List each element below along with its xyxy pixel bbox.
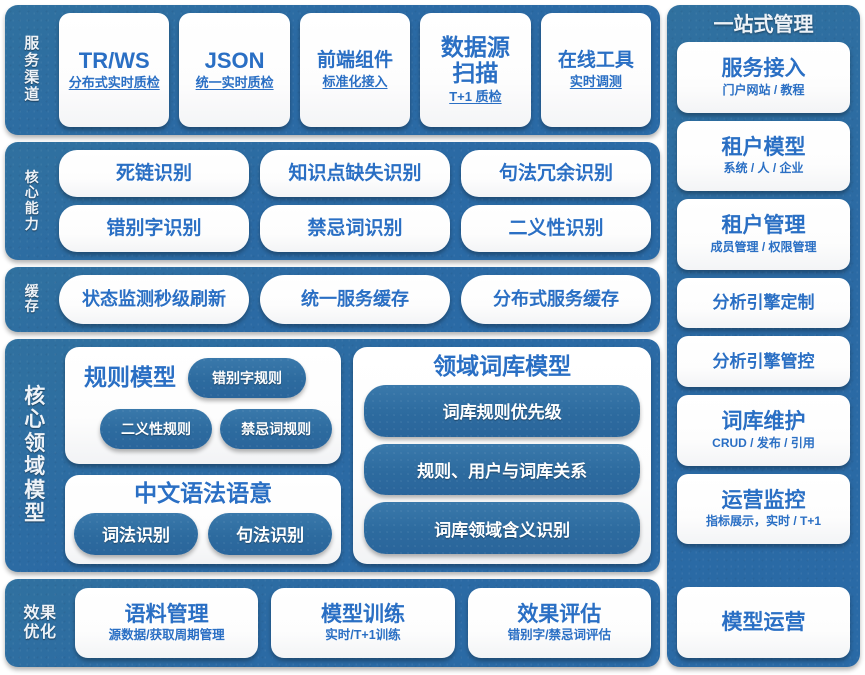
service-channel-card-list: TR/WS 分布式实时质检 JSON 统一实时质检 前端组件 标准化接入 数据源… (59, 13, 651, 127)
card-tenant-model[interactable]: 租户模型 系统 / 人 / 企业 (677, 121, 850, 192)
card-syntax-redundancy-detect[interactable]: 句法冗余识别 (461, 150, 651, 197)
label-line: 效果 (23, 604, 56, 623)
panel-label-effect-optimization: 效果 优化 (14, 588, 66, 658)
card-subtitle: 错别字/禁忌词评估 (508, 628, 611, 643)
group-title-domain-lexicon: 领域词库模型 (364, 354, 640, 379)
card-lexicon-maintenance[interactable]: 词库维护 CRUD / 发布 / 引用 (677, 395, 850, 466)
card-title: 错别字识别 (106, 218, 201, 239)
panel-core-domain-model: 核 心 领 域 模 型 规则模型 错别字规则 (5, 339, 660, 572)
card-title: 服务接入 (722, 57, 806, 81)
left-column: 服 务 渠 道 TR/WS 分布式实时质检 JSON 统一实时质检 前端组件 (5, 5, 660, 667)
architecture-diagram: 服 务 渠 道 TR/WS 分布式实时质检 JSON 统一实时质检 前端组件 (0, 0, 865, 675)
card-knowledge-gap-detect[interactable]: 知识点缺失识别 (260, 150, 450, 197)
card-subtitle: T+1 质检 (449, 89, 501, 105)
pill-rule-user-lexicon-relation[interactable]: 规则、用户与词库关系 (364, 444, 640, 496)
card-title: TR/WS (79, 49, 150, 74)
pill-label: 禁忌词规则 (241, 419, 311, 439)
card-title: 租户管理 (722, 214, 806, 238)
card-title: 模型运营 (722, 611, 806, 635)
card-subtitle: 实时调测 (570, 74, 622, 90)
card-effect-evaluation[interactable]: 效果评估 错别字/禁忌词评估 (468, 588, 651, 658)
card-subtitle: 指标展示，实时 / T+1 (706, 514, 821, 528)
panel-one-stop-management: 一站式管理 服务接入 门户网站 / 教程 租户模型 系统 / 人 / 企业 租户… (667, 5, 860, 667)
pill-label: 词法识别 (102, 521, 170, 546)
card-online-tool[interactable]: 在线工具 实时调测 (541, 13, 651, 127)
card-title: 前端组件 (317, 50, 393, 71)
pill-label: 错别字规则 (212, 368, 282, 388)
card-title: 租户模型 (722, 136, 806, 160)
card-title: 禁忌词识别 (307, 218, 402, 239)
core-domain-model-body: 规则模型 错别字规则 二义性规则 禁忌词规则 (65, 347, 651, 564)
label-char: 模 (24, 479, 46, 503)
pill-taboo-word-rule[interactable]: 禁忌词规则 (220, 409, 332, 449)
card-corpus-management[interactable]: 语料管理 源数据/获取周期管理 (75, 588, 258, 658)
card-title: 知识点缺失识别 (288, 163, 421, 184)
group-title-rule-model: 规则模型 (74, 365, 182, 390)
panel-service-channel: 服 务 渠 道 TR/WS 分布式实时质检 JSON 统一实时质检 前端组件 (5, 5, 660, 135)
group-chinese-grammar: 中文语法语意 词法识别 句法识别 (65, 475, 341, 564)
panel-core-capability: 核 心 能 力 死链识别 知识点缺失识别 句法冗余识别 错别字识别 (5, 142, 660, 260)
card-title: 死链识别 (116, 163, 192, 184)
core-domain-right-group: 领域词库模型 词库规则优先级 规则、用户与词库关系 词库领域含义识别 (353, 347, 651, 564)
card-title: 在线工具 (558, 50, 634, 71)
group-rule-model: 规则模型 错别字规则 二义性规则 禁忌词规则 (65, 347, 341, 464)
pill-lexicon-domain-meaning[interactable]: 词库领域含义识别 (364, 502, 640, 554)
panel-label-service-channel: 服 务 渠 道 (14, 13, 50, 127)
card-subtitle: 系统 / 人 / 企业 (723, 161, 803, 175)
card-subtitle: 成员管理 / 权限管理 (710, 240, 816, 254)
card-subtitle: 统一实时质检 (196, 75, 274, 91)
card-status-monitor-refresh[interactable]: 状态监测秒级刷新 (59, 275, 249, 324)
core-domain-left-group: 规则模型 错别字规则 二义性规则 禁忌词规则 (65, 347, 341, 564)
pill-label: 句法识别 (236, 521, 304, 546)
label-char: 能 (25, 201, 40, 217)
card-title: 统一服务缓存 (301, 289, 409, 309)
label-line: 优化 (23, 623, 56, 642)
card-json[interactable]: JSON 统一实时质检 (179, 13, 289, 127)
layout-spacer (677, 552, 850, 579)
card-title: 效果评估 (517, 603, 601, 627)
card-title: 运营监控 (722, 489, 806, 513)
pill-lexical-recognition[interactable]: 词法识别 (74, 513, 198, 555)
card-tr-ws[interactable]: TR/WS 分布式实时质检 (59, 13, 169, 127)
card-analysis-engine-control[interactable]: 分析引擎管控 (677, 336, 850, 387)
card-frontend-component[interactable]: 前端组件 标准化接入 (300, 13, 410, 127)
pill-label: 词库规则优先级 (443, 398, 562, 423)
card-unified-service-cache[interactable]: 统一服务缓存 (260, 275, 450, 324)
card-subtitle: CRUD / 发布 / 引用 (712, 436, 815, 450)
card-subtitle: 源数据/获取周期管理 (109, 628, 225, 643)
card-ambiguity-detect[interactable]: 二义性识别 (461, 205, 651, 252)
panel-effect-optimization: 效果 优化 语料管理 源数据/获取周期管理 模型训练 实时/T+1训练 效果评估… (5, 579, 660, 667)
core-capability-card-list: 死链识别 知识点缺失识别 句法冗余识别 错别字识别 禁忌词识别 二义性识别 (59, 150, 651, 252)
group-domain-lexicon-model: 领域词库模型 词库规则优先级 规则、用户与词库关系 词库领域含义识别 (353, 347, 651, 564)
card-title: 句法冗余识别 (499, 163, 613, 184)
label-char: 型 (24, 502, 46, 526)
pill-label: 二义性规则 (121, 419, 191, 439)
card-title: 词库维护 (722, 410, 806, 434)
label-char: 心 (24, 408, 46, 432)
card-dead-link-detect[interactable]: 死链识别 (59, 150, 249, 197)
card-distributed-service-cache[interactable]: 分布式服务缓存 (461, 275, 651, 324)
card-model-training[interactable]: 模型训练 实时/T+1训练 (271, 588, 454, 658)
card-subtitle: 实时/T+1训练 (325, 628, 400, 643)
effect-optimization-card-list: 语料管理 源数据/获取周期管理 模型训练 实时/T+1训练 效果评估 错别字/禁… (75, 588, 651, 658)
pill-lexicon-rule-priority[interactable]: 词库规则优先级 (364, 385, 640, 437)
group-title-chinese-grammar: 中文语法语意 (74, 481, 332, 506)
card-operation-monitoring[interactable]: 运营监控 指标展示，实时 / T+1 (677, 474, 850, 545)
label-char: 力 (25, 217, 40, 233)
label-char: 存 (25, 299, 40, 315)
card-title: 分析引擎定制 (713, 293, 815, 312)
panel-label-core-domain-model: 核 心 领 域 模 型 (14, 347, 56, 564)
label-char: 域 (24, 455, 46, 479)
label-char: 服 (24, 36, 40, 53)
card-title: 语料管理 (125, 603, 209, 627)
panel-label-cache: 缓 存 (14, 275, 50, 324)
card-subtitle: 标准化接入 (323, 74, 388, 90)
card-title: 二义性识别 (508, 218, 603, 239)
card-title: 数据源扫描 (436, 35, 514, 87)
card-title: JSON (205, 49, 265, 74)
card-datasource-scan[interactable]: 数据源扫描 T+1 质检 (420, 13, 530, 127)
panel-cache: 缓 存 状态监测秒级刷新 统一服务缓存 分布式服务缓存 (5, 267, 660, 332)
label-char: 务 (24, 53, 40, 70)
panel-label-core-capability: 核 心 能 力 (14, 150, 50, 252)
pill-label: 词库领域含义识别 (434, 516, 570, 541)
label-char: 心 (25, 185, 40, 201)
card-subtitle: 分布式实时质检 (69, 75, 160, 91)
label-char: 道 (24, 87, 40, 104)
card-model-operation[interactable]: 模型运营 (677, 587, 850, 658)
label-char: 领 (24, 432, 46, 456)
label-char: 核 (24, 385, 46, 409)
card-title: 状态监测秒级刷新 (82, 289, 226, 309)
card-typo-detect[interactable]: 错别字识别 (59, 205, 249, 252)
cache-card-list: 状态监测秒级刷新 统一服务缓存 分布式服务缓存 (59, 275, 651, 324)
pill-ambiguity-rule[interactable]: 二义性规则 (100, 409, 212, 449)
card-title: 分析引擎管控 (713, 352, 815, 371)
pill-syntax-recognition[interactable]: 句法识别 (208, 513, 332, 555)
label-char: 缓 (25, 284, 40, 300)
pill-typo-rule[interactable]: 错别字规则 (188, 358, 306, 398)
one-stop-management-list: 服务接入 门户网站 / 教程 租户模型 系统 / 人 / 企业 租户管理 成员管… (677, 42, 850, 658)
pill-label: 规则、用户与词库关系 (417, 457, 587, 482)
label-char: 核 (25, 170, 40, 186)
card-taboo-word-detect[interactable]: 禁忌词识别 (260, 205, 450, 252)
card-tenant-management[interactable]: 租户管理 成员管理 / 权限管理 (677, 199, 850, 270)
card-analysis-engine-customization[interactable]: 分析引擎定制 (677, 278, 850, 329)
card-title: 分布式服务缓存 (493, 289, 619, 309)
label-char: 渠 (24, 70, 40, 87)
card-service-access[interactable]: 服务接入 门户网站 / 教程 (677, 42, 850, 113)
panel-title-one-stop-management: 一站式管理 (677, 11, 850, 42)
card-title: 模型训练 (321, 603, 405, 627)
right-column: 一站式管理 服务接入 门户网站 / 教程 租户模型 系统 / 人 / 企业 租户… (667, 5, 860, 667)
card-subtitle: 门户网站 / 教程 (722, 83, 804, 97)
